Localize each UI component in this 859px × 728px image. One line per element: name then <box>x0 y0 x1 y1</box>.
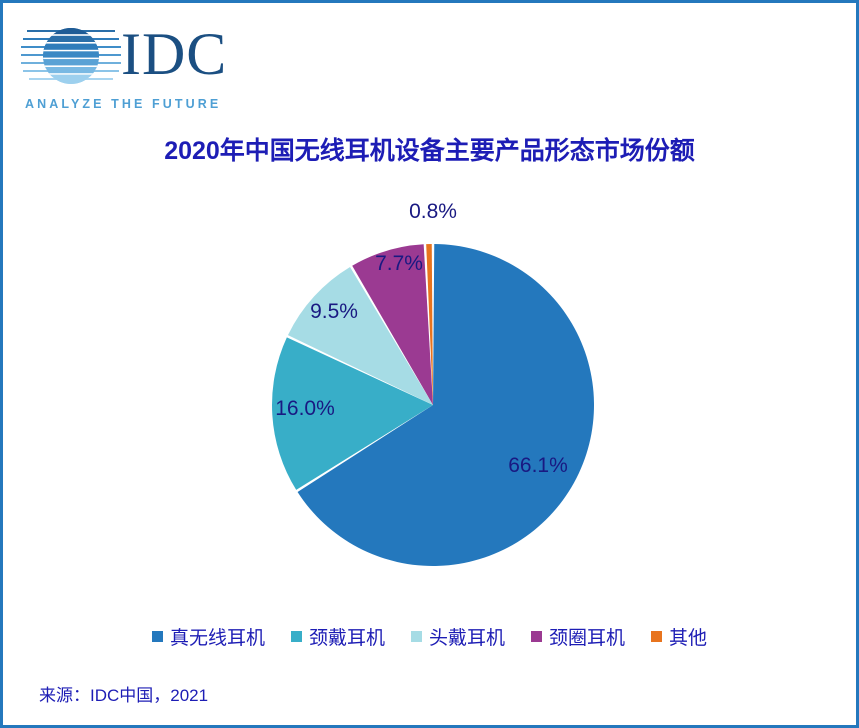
pie-slice[interactable] <box>352 244 433 405</box>
legend-item[interactable]: 真无线耳机 <box>152 623 265 650</box>
legend-swatch-icon <box>291 631 302 642</box>
idc-globe-icon <box>21 25 121 87</box>
legend-item[interactable]: 其他 <box>651 623 707 650</box>
legend-item-label: 颈戴耳机 <box>309 623 385 650</box>
pie-slice-label: 7.7% <box>375 252 423 275</box>
chart-page: IDC ANALYZE THE FUTURE 2020年中国无线耳机设备主要产品… <box>0 0 859 728</box>
legend-swatch-icon <box>152 631 163 642</box>
legend-item[interactable]: 头戴耳机 <box>411 623 505 650</box>
idc-tagline: ANALYZE THE FUTURE <box>25 97 221 111</box>
pie-slice[interactable] <box>298 244 594 566</box>
pie-slice-label: 0.8% <box>409 200 457 223</box>
pie-slice-label: 66.1% <box>508 454 568 477</box>
chart-legend: 真无线耳机颈戴耳机头戴耳机颈圈耳机其他 <box>3 623 856 650</box>
legend-item-label: 真无线耳机 <box>170 623 265 650</box>
legend-item-label: 其他 <box>669 623 707 650</box>
pie-slice[interactable] <box>272 337 433 489</box>
source-note: 来源：IDC中国，2021 <box>39 681 208 706</box>
idc-wordmark: IDC <box>121 23 227 85</box>
legend-item[interactable]: 颈圈耳机 <box>531 623 625 650</box>
legend-item-label: 颈圈耳机 <box>549 623 625 650</box>
legend-item[interactable]: 颈戴耳机 <box>291 623 385 650</box>
legend-swatch-icon <box>411 631 422 642</box>
pie-slice-label: 9.5% <box>310 300 358 323</box>
pie-slice-label: 16.0% <box>275 397 335 420</box>
chart-title: 2020年中国无线耳机设备主要产品形态市场份额 <box>3 131 856 167</box>
pie-label-group: 66.1%16.0%9.5%7.7%0.8% <box>275 200 568 477</box>
pie-slice-group <box>272 244 594 566</box>
legend-item-label: 头戴耳机 <box>429 623 505 650</box>
legend-swatch-icon <box>651 631 662 642</box>
pie-slice[interactable] <box>288 267 433 405</box>
legend-swatch-icon <box>531 631 542 642</box>
pie-slice[interactable] <box>426 244 433 405</box>
idc-logo: IDC ANALYZE THE FUTURE <box>15 17 265 112</box>
